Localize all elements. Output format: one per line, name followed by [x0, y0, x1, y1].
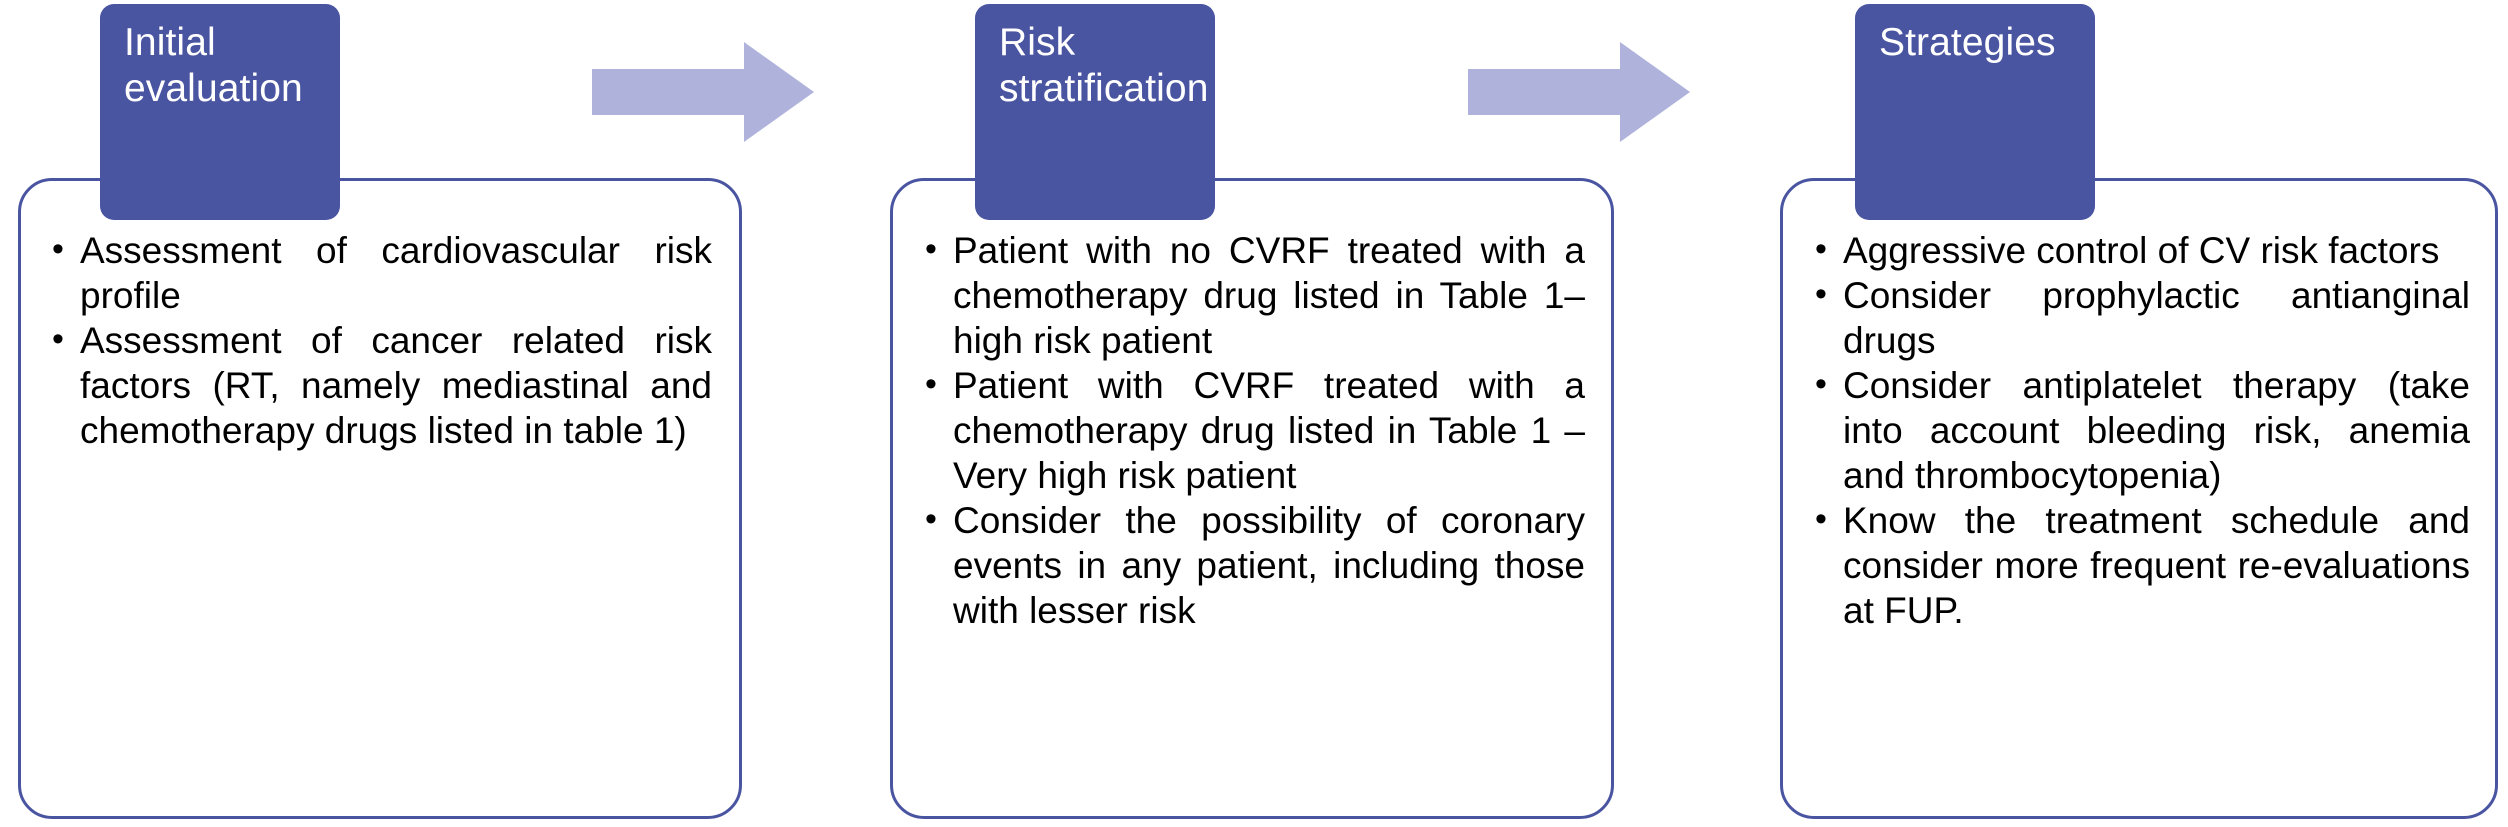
stage-bullet-list-risk-stratification: Patient with no CVRF treated with a chem… [925, 228, 1585, 633]
list-item: Aggressive control of CV risk factors [1815, 228, 2470, 273]
list-item: Consider antiplatelet therapy (take into… [1815, 363, 2470, 498]
list-item: Assessment of cancer related risk factor… [52, 318, 712, 453]
list-item: Consider prophylactic antianginal drugs [1815, 273, 2470, 363]
list-item: Assessment of cardiovascular risk profil… [52, 228, 712, 318]
stage-bullet-list-initial-evaluation: Assessment of cardiovascular risk profil… [52, 228, 712, 453]
process-flow-diagram: Initial evaluation Assessment of cardiov… [0, 0, 2508, 827]
stage-header-risk-stratification: Risk stratification [975, 4, 1215, 220]
list-item: Consider the possibility of coronary eve… [925, 498, 1585, 633]
list-item: Patient with CVRF treated with a chemoth… [925, 363, 1585, 498]
list-item: Patient with no CVRF treated with a chem… [925, 228, 1585, 363]
arrow-risk-to-strategies-icon [1468, 42, 1690, 142]
list-item: Know the treatment schedule and consider… [1815, 498, 2470, 633]
stage-header-strategies: Strategies [1855, 4, 2095, 220]
arrow-initial-to-risk-icon [592, 42, 814, 142]
stage-header-initial-evaluation: Initial evaluation [100, 4, 340, 220]
stage-bullet-list-strategies: Aggressive control of CV risk factors Co… [1815, 228, 2470, 633]
